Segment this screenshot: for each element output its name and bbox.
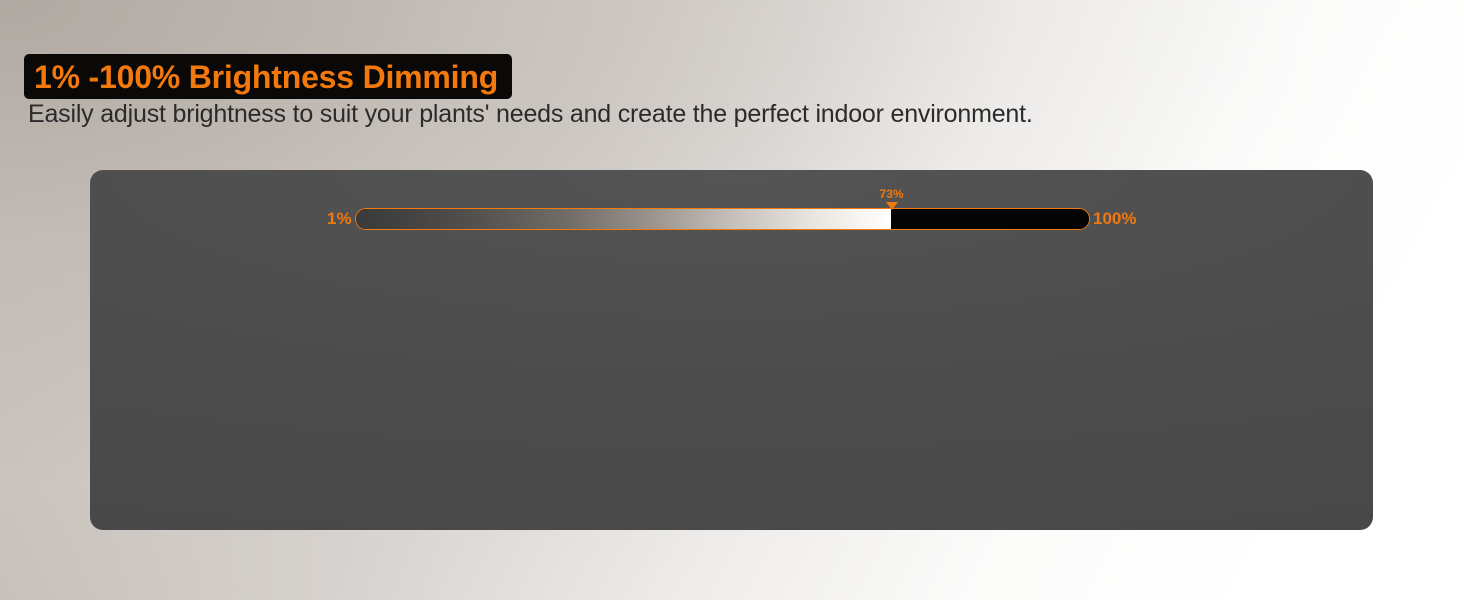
headline-subtitle: Easily adjust brightness to suit your pl… (28, 100, 1033, 129)
brightness-slider[interactable]: 1% 100% 73% (327, 188, 1147, 248)
slider-min-label: 1% (327, 210, 352, 227)
triangle-down-icon (886, 202, 898, 210)
headline-badge: 1% -100% Brightness Dimming (24, 54, 512, 99)
headline-title: 1% -100% Brightness Dimming (34, 61, 498, 93)
slider-remainder (891, 209, 1089, 229)
slider-thumb[interactable]: 73% (880, 188, 904, 210)
demo-panel: 1% 100% 73% (90, 170, 1373, 530)
slider-max-label: 100% (1093, 210, 1136, 227)
slider-value-label: 73% (880, 188, 904, 200)
slider-track[interactable] (355, 208, 1090, 230)
promo-banner: 1% -100% Brightness Dimming Easily adjus… (0, 0, 1464, 600)
slider-fill (356, 209, 891, 229)
